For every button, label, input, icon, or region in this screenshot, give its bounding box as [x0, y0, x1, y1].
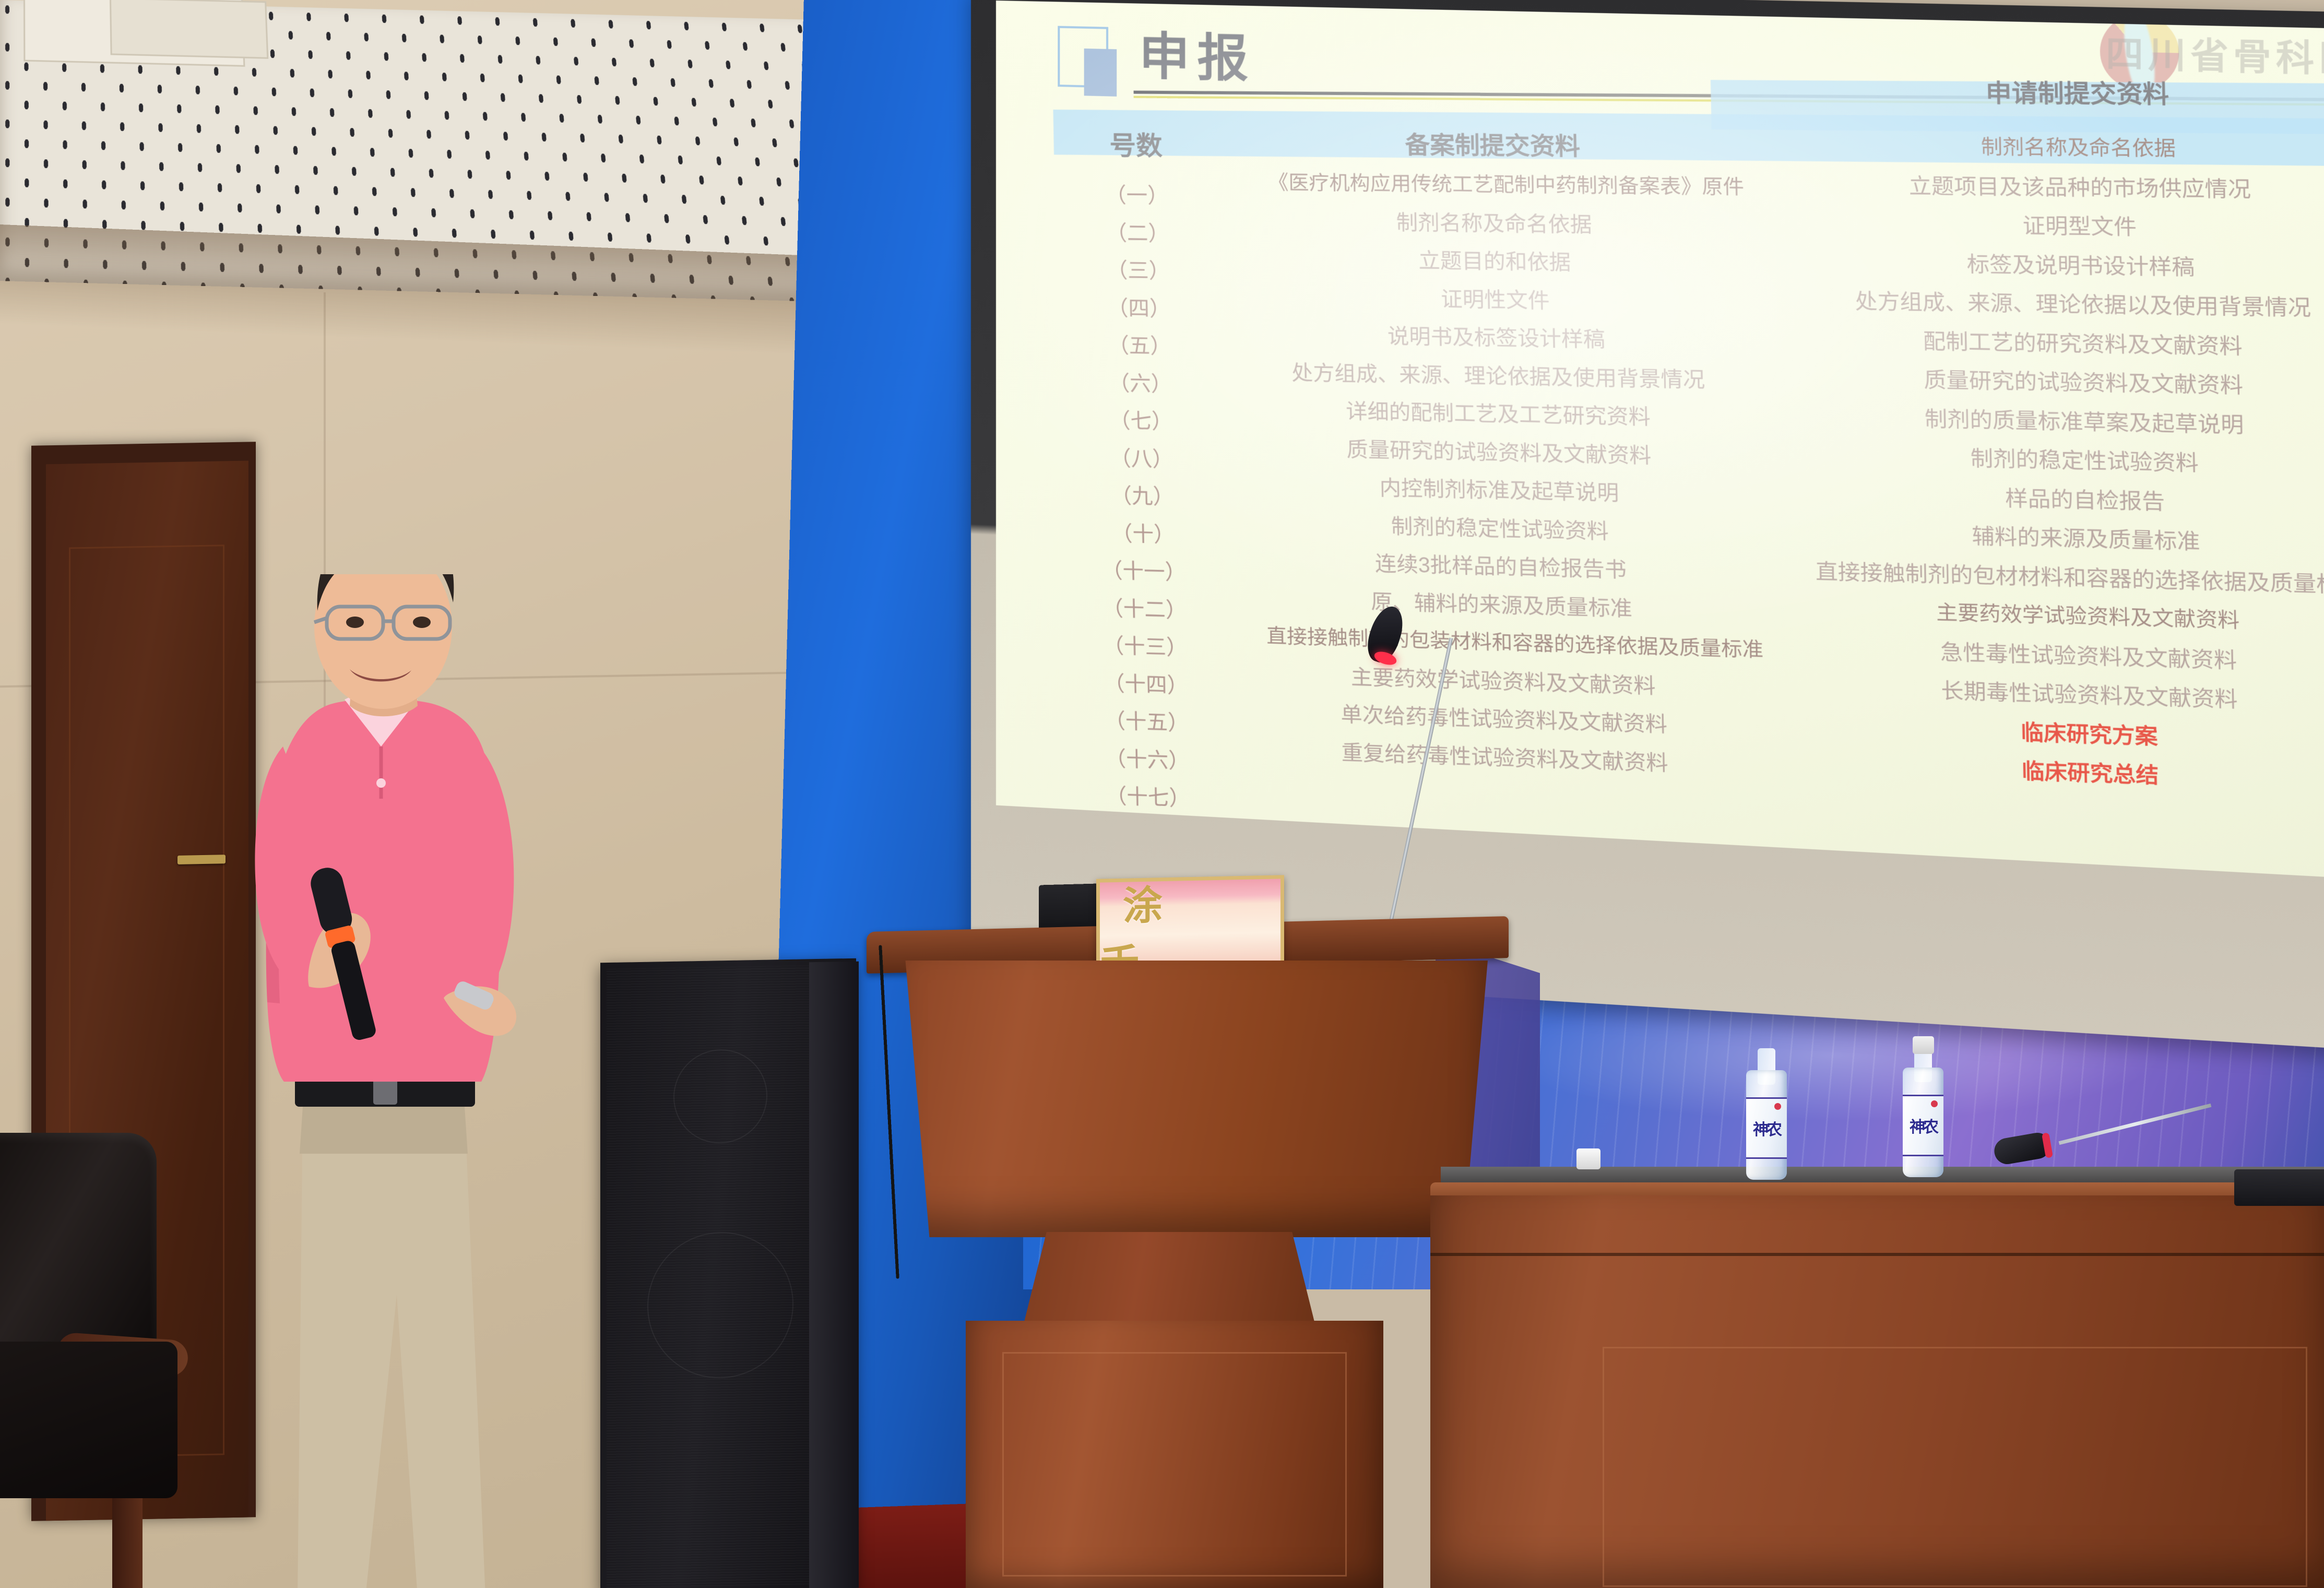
armchair[interactable]: [0, 1133, 198, 1588]
presenter-trousers: [298, 1107, 485, 1588]
table-cell-right: 证明型文件: [1776, 206, 2324, 244]
chair-leg: [112, 1498, 143, 1588]
table-row-number: （十）: [1056, 515, 1231, 550]
bottle-label-dot-icon: [1931, 1100, 1938, 1107]
table-groove: [1430, 1253, 2324, 1256]
bottle-label-dot-icon: [1774, 1103, 1781, 1110]
table-cell-right: 主要药效学试验资料及文献资料: [1784, 591, 2324, 638]
table-cell-left: 原、辅料的来源及质量标准: [1231, 580, 1776, 626]
presenter-person: [172, 574, 799, 1588]
bottle-label: 神农: [1903, 1095, 1943, 1156]
table-cell-left: 连续3批样品的自检报告书: [1231, 543, 1776, 587]
table-cell-right: 样品的自检报告: [1782, 476, 2324, 520]
table-row-number: （四）: [1052, 290, 1227, 323]
table-front-panel: [1603, 1347, 2307, 1587]
table-cell-right: 制剂的质量标准草案及起草说明: [1780, 399, 2324, 442]
table-row-number: （九）: [1055, 477, 1230, 512]
bottle-brand: 神农: [1753, 1117, 1780, 1140]
ceiling-vent: [110, 0, 268, 59]
comparison-table: 号数 备案制提交资料 申请制提交资料 （一）《医疗机构应用传统工艺配制中药制剂备…: [1048, 104, 2324, 843]
table-cell-right: 直接接触制剂的包材材料和容器的选择依据及质量标准: [1783, 553, 2324, 600]
table-cell-left: 制剂名称及命名依据: [1225, 203, 1769, 240]
table-equipment-box: [2234, 1169, 2324, 1206]
lectern-base: [966, 1321, 1383, 1588]
bottle-label: 神农: [1746, 1097, 1787, 1159]
table-row-number: （十七）: [1061, 777, 1236, 814]
bullet-square-fill-icon: [1084, 49, 1117, 97]
table-cell-right: 制剂的稳定性试验资料: [1781, 437, 2324, 481]
bottle-cap-on-table[interactable]: [1576, 1148, 1600, 1169]
scene-root: 申报 四川省骨科医院 号数 备案制提交资料 申请制提交资料 （一）《医疗机构应用…: [0, 0, 2324, 1588]
table-cell-left: 立题目的和依据: [1225, 241, 1770, 279]
table-row-number: （十六）: [1060, 740, 1235, 776]
pa-speaker-side: [809, 962, 859, 1588]
table-cell-left: 证明性文件: [1226, 279, 1770, 317]
speaker-nameplate: 涂 禾: [1096, 875, 1284, 973]
table-cell-right: 立题项目及该品种的市场供应情况: [1776, 167, 2324, 205]
table-row-number: （七）: [1054, 402, 1229, 436]
header-number: 号数: [1049, 124, 1224, 163]
table-cell-left: 详细的配制工艺及工艺研究资料: [1228, 392, 1772, 433]
table-row-number: （三）: [1051, 253, 1226, 286]
table-cell-right: 质量研究的试验资料及文献资料: [1780, 360, 2324, 402]
table-row-number: （八）: [1054, 440, 1229, 474]
table-cell-right: 标签及说明书设计样稿: [1777, 244, 2324, 284]
presenter-face: [314, 574, 452, 709]
bottle-brand: 神农: [1910, 1114, 1937, 1137]
slide-title: 申报: [1139, 15, 1256, 91]
table-row-number: （二）: [1050, 215, 1225, 247]
table-cell-left: 制剂的稳定性试验资料: [1230, 505, 1774, 549]
table-cell-right: 制剂名称及命名依据: [1775, 128, 2324, 163]
table-row-number: （十五）: [1059, 702, 1234, 738]
lectern-cable: [879, 945, 899, 1278]
table-cell-left: 质量研究的试验资料及文献资料: [1229, 430, 1773, 472]
lectern: 涂 禾: [867, 924, 1524, 1588]
bottle-cap[interactable]: [1913, 1036, 1934, 1054]
table-cell-left: 处方组成、来源、理论依据及使用背景情况: [1227, 354, 1772, 395]
table-cell-left: 内控制剂标准及起草说明: [1229, 467, 1774, 510]
table-cell-right: 临床研究总结: [1787, 746, 2324, 798]
table-cell-right: 配制工艺的研究资料及文献资料: [1778, 322, 2324, 363]
table-row-number: （六）: [1053, 365, 1228, 398]
table-cell-left: 说明书及标签设计样稿: [1227, 316, 1771, 356]
lectern-base-panel: [1002, 1352, 1347, 1577]
table-row-number: （十四）: [1059, 665, 1234, 701]
table-cell-right: 处方组成、来源、理论依据以及使用背景情况: [1778, 283, 2324, 323]
water-bottle[interactable]: 神农: [1746, 1039, 1787, 1180]
water-bottle[interactable]: 神农: [1903, 1036, 1943, 1177]
table-row-number: （十一）: [1057, 552, 1231, 587]
header-left-column: 备案制提交资料: [1223, 124, 1768, 164]
table-cell-left: 《医疗机构应用传统工艺配制中药制剂备案表》原件: [1181, 165, 1835, 200]
header-right-column: 申请制提交资料: [1774, 73, 2324, 112]
chair-seat: [0, 1342, 177, 1498]
lectern-body: [887, 961, 1488, 1237]
table-row-number: （五）: [1052, 327, 1227, 361]
chair-backrest: [0, 1133, 157, 1357]
lectern-column: [1023, 1232, 1315, 1326]
table-cell-right: 辅料的来源及质量标准: [1782, 514, 2324, 560]
presentation-slide: 申报 四川省骨科医院 号数 备案制提交资料 申请制提交资料 （一）《医疗机构应用…: [996, 1, 2324, 882]
